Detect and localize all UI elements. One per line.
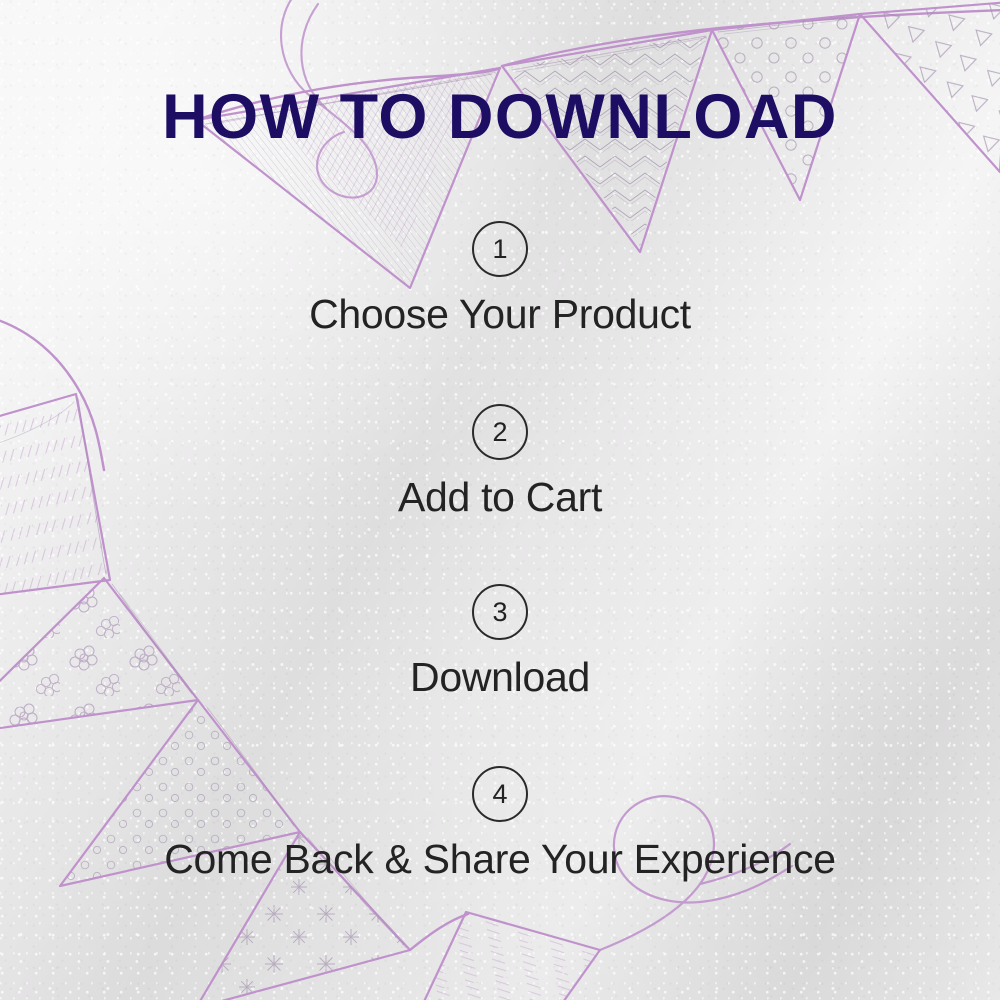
step-number-1: 1 [492,236,507,263]
poster-content: HOW TO DOWNLOAD 1 Choose Your Product 2 … [0,0,1000,1000]
step-number-4: 4 [492,781,507,808]
step-item-4: 4 Come Back & Share Your Experience [0,766,1000,883]
step-label-2: Add to Cart [0,474,1000,521]
step-number-badge-3: 3 [472,584,528,640]
page-title: HOW TO DOWNLOAD [0,86,1000,149]
poster-canvas: HOW TO DOWNLOAD 1 Choose Your Product 2 … [0,0,1000,1000]
step-number-3: 3 [492,599,507,626]
step-label-3: Download [0,654,1000,701]
step-number-badge-1: 1 [472,221,528,277]
step-number-badge-4: 4 [472,766,528,822]
step-item-3: 3 Download [0,584,1000,701]
step-label-1: Choose Your Product [0,291,1000,338]
step-number-2: 2 [492,419,507,446]
step-number-badge-2: 2 [472,404,528,460]
step-label-4: Come Back & Share Your Experience [0,836,1000,883]
step-item-1: 1 Choose Your Product [0,221,1000,338]
step-item-2: 2 Add to Cart [0,404,1000,521]
